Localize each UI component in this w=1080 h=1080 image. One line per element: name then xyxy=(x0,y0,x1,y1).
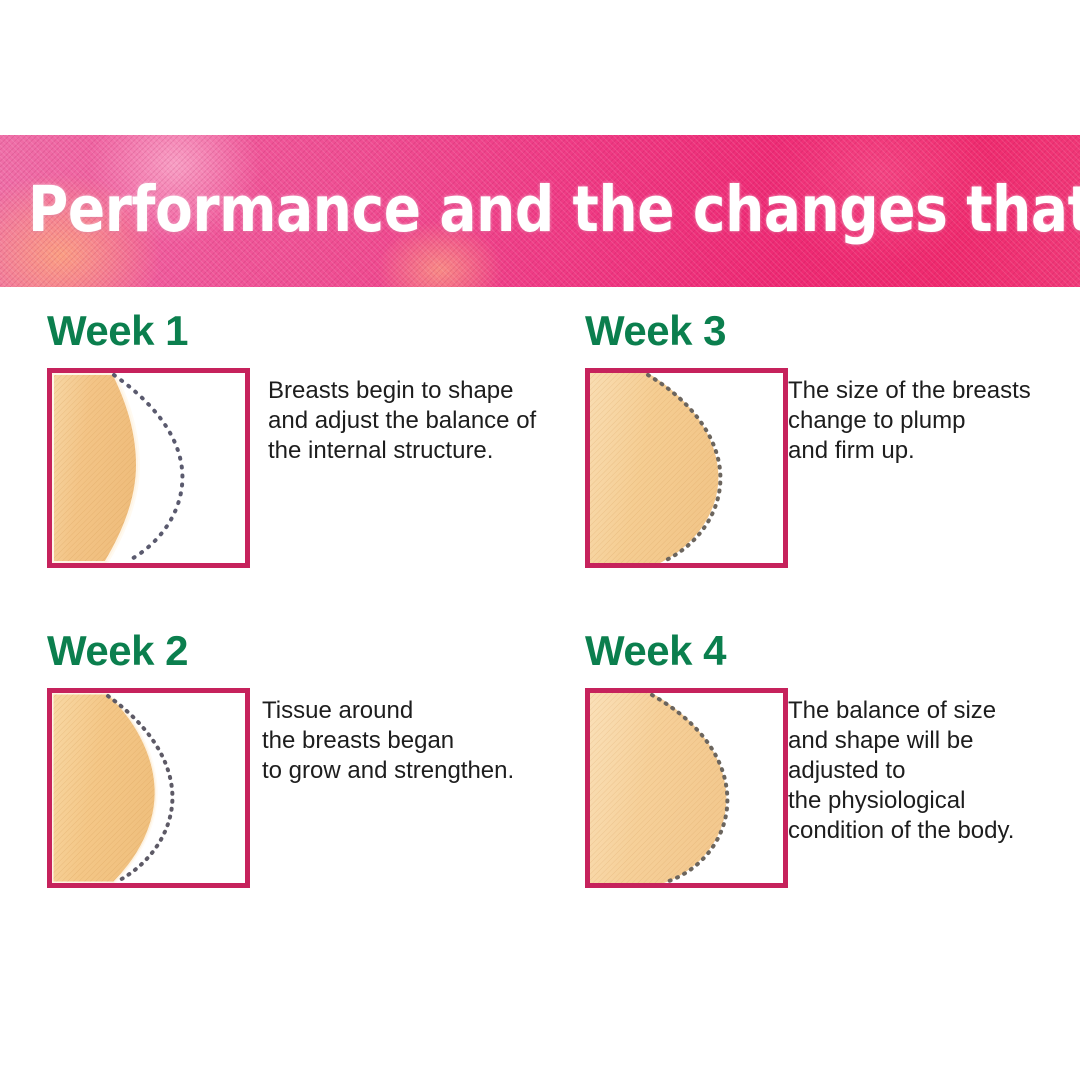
panel-week-2-heading: Week 2 xyxy=(47,630,188,672)
header-banner: Performance and the changes that occur xyxy=(0,135,1080,287)
panel-week-3-figure-box xyxy=(585,368,788,568)
panel-week-4-figure-box xyxy=(585,688,788,888)
panel-week-2-figure-box xyxy=(47,688,250,888)
breast-silhouette-week-4-icon xyxy=(590,693,783,883)
panel-week-1-description: Breasts begin to shape and adjust the ba… xyxy=(268,376,568,466)
panel-week-4-heading: Week 4 xyxy=(585,630,726,672)
panel-week-2-description: Tissue around the breasts began to grow … xyxy=(262,696,592,786)
panel-week-1-heading: Week 1 xyxy=(47,310,188,352)
breast-silhouette-week-2-icon xyxy=(52,693,245,883)
banner-title: Performance and the changes that occur xyxy=(28,173,1080,246)
panel-week-3-heading: Week 3 xyxy=(585,310,726,352)
panel-week-3-description: The size of the breasts change to plump … xyxy=(788,376,1080,466)
panel-week-1-figure-box xyxy=(47,368,250,568)
breast-silhouette-week-1-icon xyxy=(52,373,245,563)
panel-week-4-description: The balance of size and shape will be ad… xyxy=(788,696,1080,846)
breast-silhouette-week-3-icon xyxy=(590,373,783,563)
banner-title-text: Performance and the changes that occur xyxy=(28,173,1080,246)
